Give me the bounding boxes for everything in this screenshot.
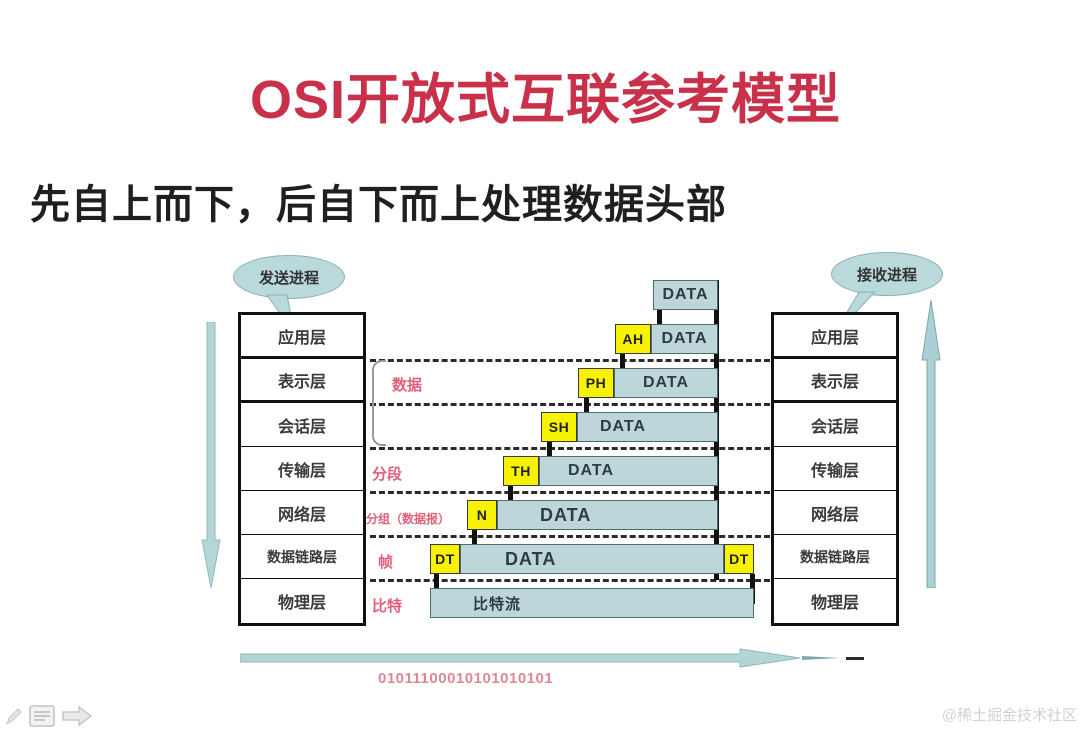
unit-label-segment: 分段	[372, 463, 402, 484]
pdu-payload: DATA	[460, 544, 724, 574]
separator-app-pres	[370, 359, 770, 362]
unit-label-packet: 分组（数据报）	[366, 510, 450, 527]
right-layer-application[interactable]: 应用层	[774, 315, 896, 359]
pdu-header-sh: SH	[541, 412, 577, 442]
next-arrow-icon[interactable]	[62, 705, 92, 727]
pdu-payload: DATA	[497, 500, 718, 530]
right-layer-physical[interactable]: 物理层	[774, 579, 896, 623]
left-layer-network[interactable]: 网络层	[241, 491, 363, 535]
right-layer-network[interactable]: 网络层	[774, 491, 896, 535]
unit-label-frame: 帧	[378, 551, 393, 572]
unit-label-data: 数据	[392, 374, 422, 395]
layer-label: 传输层	[278, 457, 326, 481]
left-layer-application[interactable]: 应用层	[241, 315, 363, 359]
right-osi-stack: 应用层 表示层 会话层 传输层 网络层 数据链路层 物理层	[771, 312, 899, 626]
receiver-callout-label: 接收进程	[857, 264, 917, 285]
data-group-brace	[372, 360, 386, 446]
layer-label: 物理层	[278, 589, 326, 613]
downward-encapsulation-arrow	[198, 322, 224, 590]
right-layer-presentation[interactable]: 表示层	[774, 359, 896, 403]
separator-link-phys	[370, 579, 770, 582]
sender-callout: 发送进程	[233, 255, 345, 299]
sender-callout-label: 发送进程	[259, 267, 319, 288]
left-layer-session[interactable]: 会话层	[241, 403, 363, 447]
layer-label: 物理层	[811, 589, 859, 613]
pdu-presentation: PH DATA	[578, 368, 718, 398]
pdu-transport: TH DATA	[503, 456, 718, 486]
page-subtitle: 先自上而下，后自下而上处理数据头部	[30, 172, 727, 230]
layer-label: 网络层	[811, 501, 859, 525]
pdu-header-ah: AH	[615, 324, 651, 354]
left-layer-datalink[interactable]: 数据链路层	[241, 535, 363, 579]
physical-medium-arrow	[240, 648, 870, 672]
notes-icon[interactable]	[29, 705, 55, 727]
layer-label: 应用层	[811, 324, 859, 348]
left-layer-physical[interactable]: 物理层	[241, 579, 363, 623]
left-layer-presentation[interactable]: 表示层	[241, 359, 363, 403]
left-layer-transport[interactable]: 传输层	[241, 447, 363, 491]
layer-label: 表示层	[811, 368, 859, 392]
receiver-callout: 接收进程	[831, 252, 943, 296]
unit-label-bit: 比特	[372, 595, 402, 616]
pdu-payload: DATA	[539, 456, 718, 486]
pdu-datalink: DT DATA DT	[430, 544, 754, 574]
layer-label: 数据链路层	[800, 547, 870, 567]
pdu-payload: DATA	[577, 412, 718, 442]
left-osi-stack: 应用层 表示层 会话层 传输层 网络层 数据链路层 物理层	[238, 312, 366, 626]
pdu-payload: DATA	[614, 368, 718, 398]
pdu-session: SH DATA	[541, 412, 718, 442]
pdu-payload: DATA	[653, 280, 718, 310]
layer-label: 传输层	[811, 457, 859, 481]
pdu-payload: DATA	[651, 324, 718, 354]
pen-icon[interactable]	[6, 707, 22, 725]
pdu-application-top: DATA	[653, 280, 718, 310]
pdu-trailer-dt: DT	[724, 544, 754, 574]
pdu-header-dt: DT	[430, 544, 460, 574]
pdu-header-n: N	[467, 500, 497, 530]
layer-label: 应用层	[278, 324, 326, 348]
pdu-header-th: TH	[503, 456, 539, 486]
separator-pres-sess	[370, 403, 770, 406]
right-layer-session[interactable]: 会话层	[774, 403, 896, 447]
layer-label: 网络层	[278, 501, 326, 525]
separator-sess-trans	[370, 447, 770, 450]
layer-label: 会话层	[811, 413, 859, 437]
pdu-physical: 比特流	[430, 588, 754, 618]
separator-trans-net	[370, 491, 770, 494]
pdu-application: AH DATA	[615, 324, 718, 354]
layer-label: 数据链路层	[267, 547, 337, 567]
page-title: OSI开放式互联参考模型	[0, 55, 1091, 134]
right-layer-datalink[interactable]: 数据链路层	[774, 535, 896, 579]
pdu-network: N DATA	[467, 500, 718, 530]
separator-net-link	[370, 535, 770, 538]
pdu-payload: 比特流	[430, 588, 754, 618]
pdu-header-ph: PH	[578, 368, 614, 398]
layer-label: 会话层	[278, 413, 326, 437]
watermark: @稀土掘金技术社区	[942, 704, 1077, 725]
bitstream-label: 01011100010101010101	[378, 670, 553, 687]
right-layer-transport[interactable]: 传输层	[774, 447, 896, 491]
slide-canvas: OSI开放式互联参考模型 先自上而下，后自下而上处理数据头部 发送进程 接收进程…	[0, 0, 1091, 731]
footer-toolbar	[6, 705, 92, 727]
upward-decapsulation-arrow	[918, 300, 944, 588]
layer-label: 表示层	[278, 368, 326, 392]
